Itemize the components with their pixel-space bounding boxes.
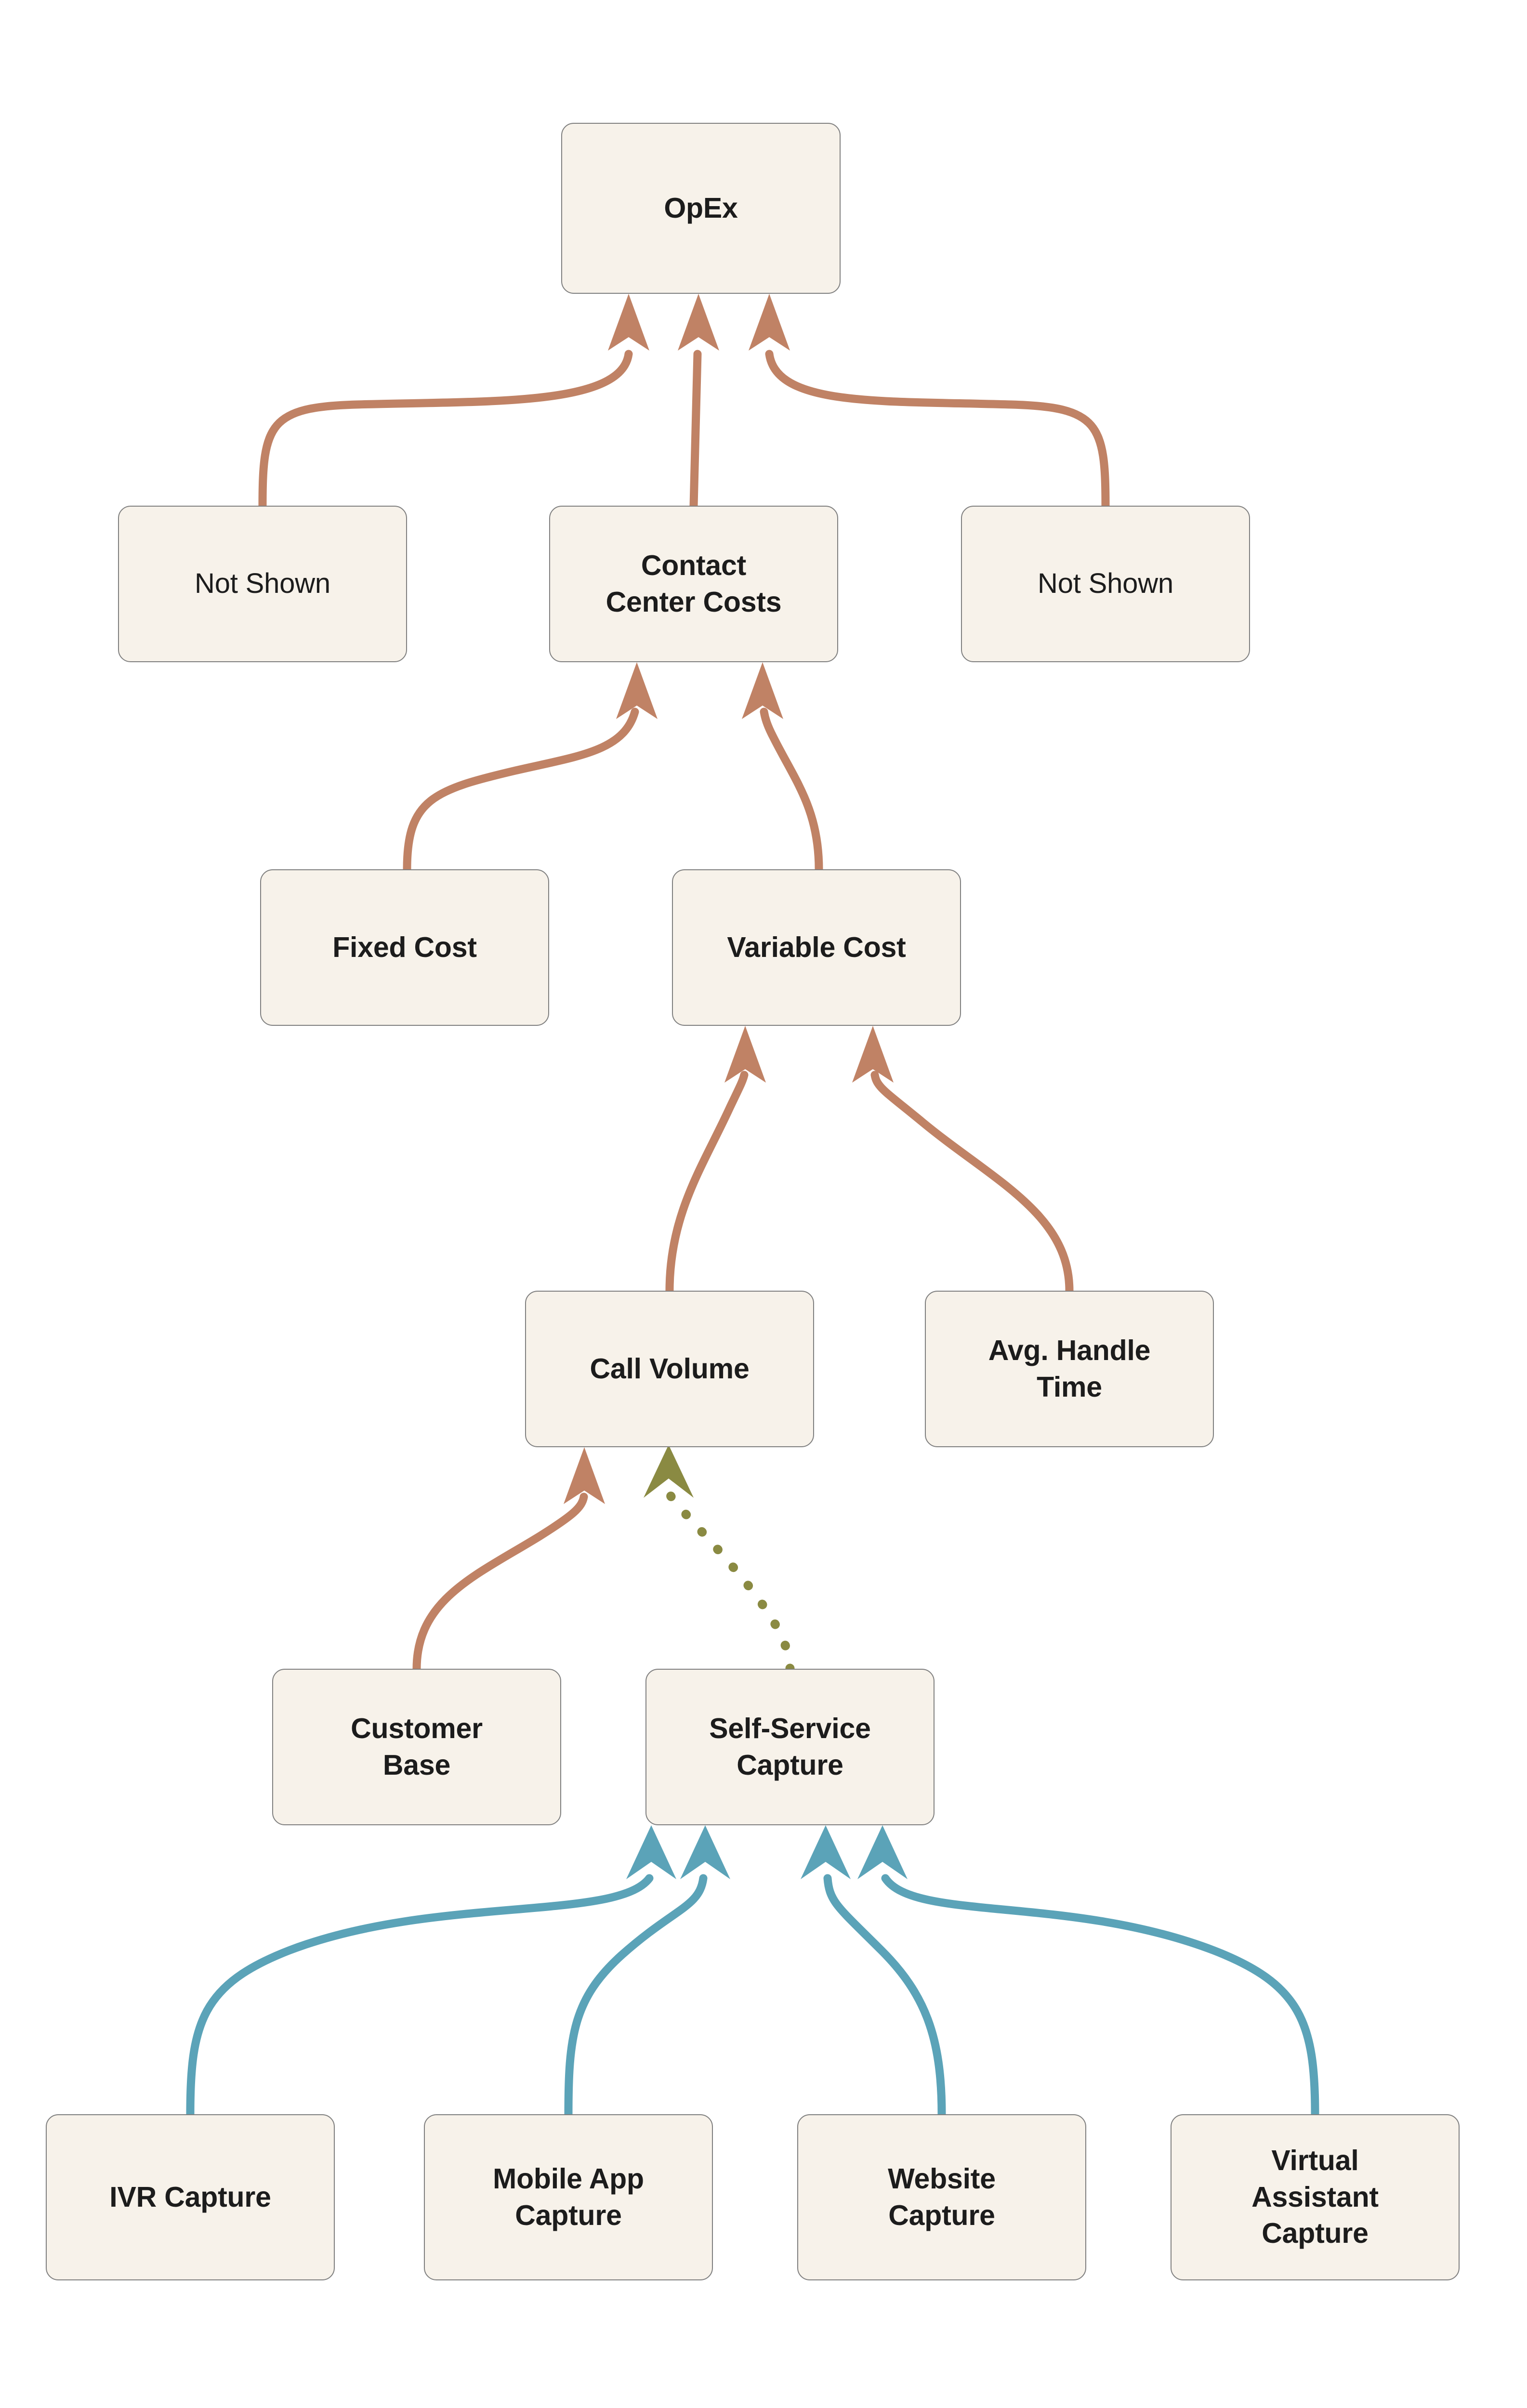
edge-callvol-to-variable — [670, 1026, 766, 1291]
node-opex[interactable]: OpEx — [561, 123, 841, 294]
diagram-canvas: OpEx Not Shown Contact Center Costs Not … — [0, 0, 1527, 2408]
edge-fixed-to-ccc — [407, 662, 658, 869]
edge-custbase-to-callvol — [417, 1447, 605, 1669]
node-customer-base-label: Customer Base — [351, 1711, 483, 1783]
edge-ivr-to-selfserv — [190, 1825, 676, 2114]
edge-website-to-selfserv — [801, 1825, 942, 2114]
node-contact-center-costs[interactable]: Contact Center Costs — [549, 506, 838, 662]
edge-not-shown-2-to-opex — [749, 294, 1106, 506]
node-virtual-assistant-capture[interactable]: Virtual Assistant Capture — [1171, 2114, 1460, 2280]
node-ivr-capture-label: IVR Capture — [109, 2179, 271, 2216]
edge-selfserv-to-callvol — [644, 1445, 790, 1669]
node-self-service-capture-label: Self-Service Capture — [709, 1711, 870, 1783]
node-variable-cost-label: Variable Cost — [727, 929, 906, 966]
edge-not-shown-1-to-opex — [263, 294, 649, 506]
node-not-shown-right[interactable]: Not Shown — [961, 506, 1250, 662]
node-website-capture-label: Website Capture — [888, 2161, 996, 2234]
node-fixed-cost[interactable]: Fixed Cost — [260, 869, 549, 1026]
node-ivr-capture[interactable]: IVR Capture — [46, 2114, 335, 2280]
node-website-capture[interactable]: Website Capture — [797, 2114, 1086, 2280]
node-mobile-app-capture[interactable]: Mobile App Capture — [424, 2114, 713, 2280]
node-call-volume-label: Call Volume — [590, 1351, 749, 1387]
node-self-service-capture[interactable]: Self-Service Capture — [645, 1669, 935, 1825]
node-mobile-app-capture-label: Mobile App Capture — [493, 2161, 644, 2234]
node-variable-cost[interactable]: Variable Cost — [672, 869, 961, 1026]
node-customer-base[interactable]: Customer Base — [272, 1669, 561, 1825]
node-not-shown-left[interactable]: Not Shown — [118, 506, 407, 662]
node-avg-handle-time[interactable]: Avg. Handle Time — [925, 1291, 1214, 1447]
node-call-volume[interactable]: Call Volume — [525, 1291, 814, 1447]
node-avg-handle-time-label: Avg. Handle Time — [988, 1333, 1151, 1405]
edge-aht-to-variable — [852, 1026, 1069, 1291]
node-virtual-assistant-capture-label: Virtual Assistant Capture — [1251, 2143, 1379, 2252]
edge-layer — [0, 0, 1527, 2408]
node-fixed-cost-label: Fixed Cost — [332, 929, 477, 966]
node-not-shown-left-label: Not Shown — [195, 566, 330, 602]
node-contact-center-costs-label: Contact Center Costs — [606, 548, 782, 620]
node-not-shown-right-label: Not Shown — [1038, 566, 1173, 602]
edge-mobile-to-selfserv — [568, 1825, 730, 2114]
edge-ccc-to-opex — [678, 294, 719, 506]
edge-variable-to-ccc — [742, 662, 819, 869]
edge-vassist-to-selfserv — [857, 1825, 1315, 2114]
node-opex-label: OpEx — [664, 190, 737, 227]
